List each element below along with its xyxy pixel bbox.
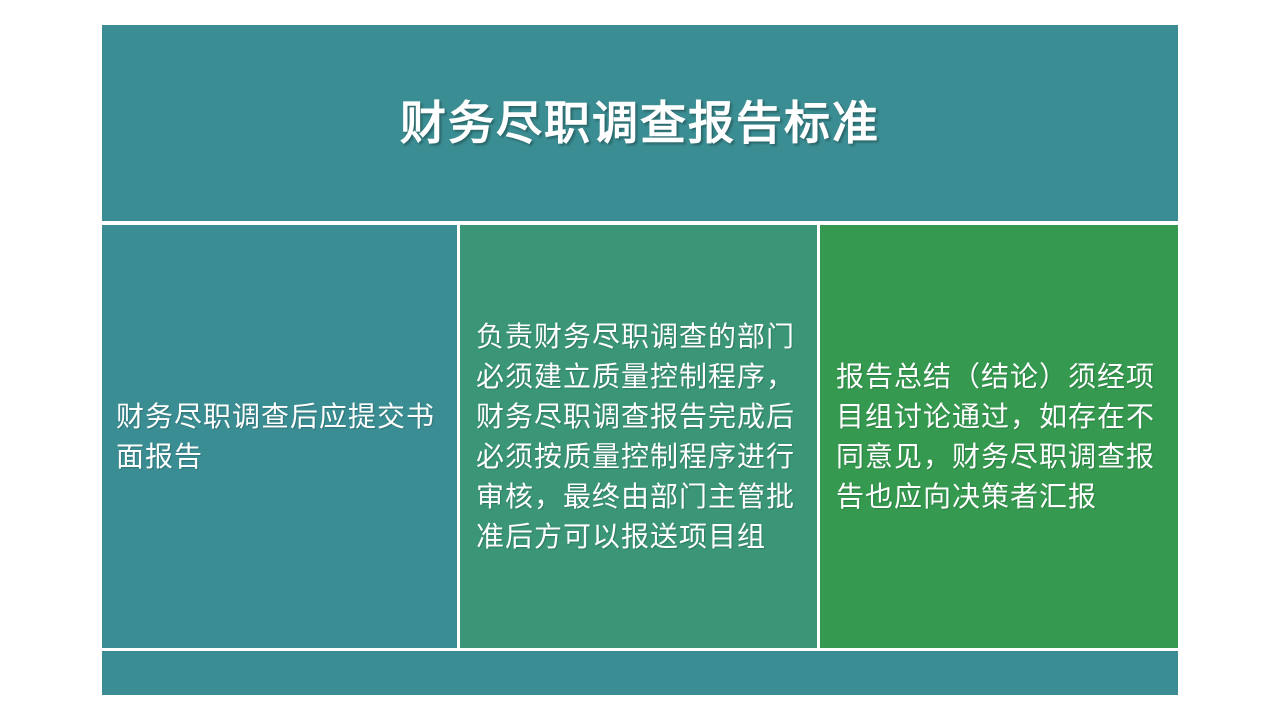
table-cell-column-2[interactable]: 负责财务尽职调查的部门必须建立质量控制程序，财务尽职调查报告完成后必须按质量控制…: [460, 225, 817, 648]
page-title: 财务尽职调查报告标准: [400, 98, 880, 149]
slide-canvas: 财务尽职调查报告标准 财务尽职调查后应提交书面报告 负责财务尽职调查的部门必须建…: [0, 0, 1280, 720]
content-table: 财务尽职调查后应提交书面报告 负责财务尽职调查的部门必须建立质量控制程序，财务尽…: [102, 225, 1178, 648]
table-cell-column-3[interactable]: 报告总结（结论）须经项目组讨论通过，如存在不同意见，财务尽职调查报告也应向决策者…: [820, 225, 1178, 648]
slide-footer-band: [102, 651, 1178, 695]
table-cell-text-column-2: 负责财务尽职调查的部门必须建立质量控制程序，财务尽职调查报告完成后必须按质量控制…: [460, 317, 817, 557]
table-cell-column-1[interactable]: 财务尽职调查后应提交书面报告: [102, 225, 457, 648]
table-cell-text-column-1: 财务尽职调查后应提交书面报告: [102, 397, 457, 477]
table-cell-text-column-3: 报告总结（结论）须经项目组讨论通过，如存在不同意见，财务尽职调查报告也应向决策者…: [820, 357, 1178, 517]
slide-header-band: 财务尽职调查报告标准: [102, 25, 1178, 221]
